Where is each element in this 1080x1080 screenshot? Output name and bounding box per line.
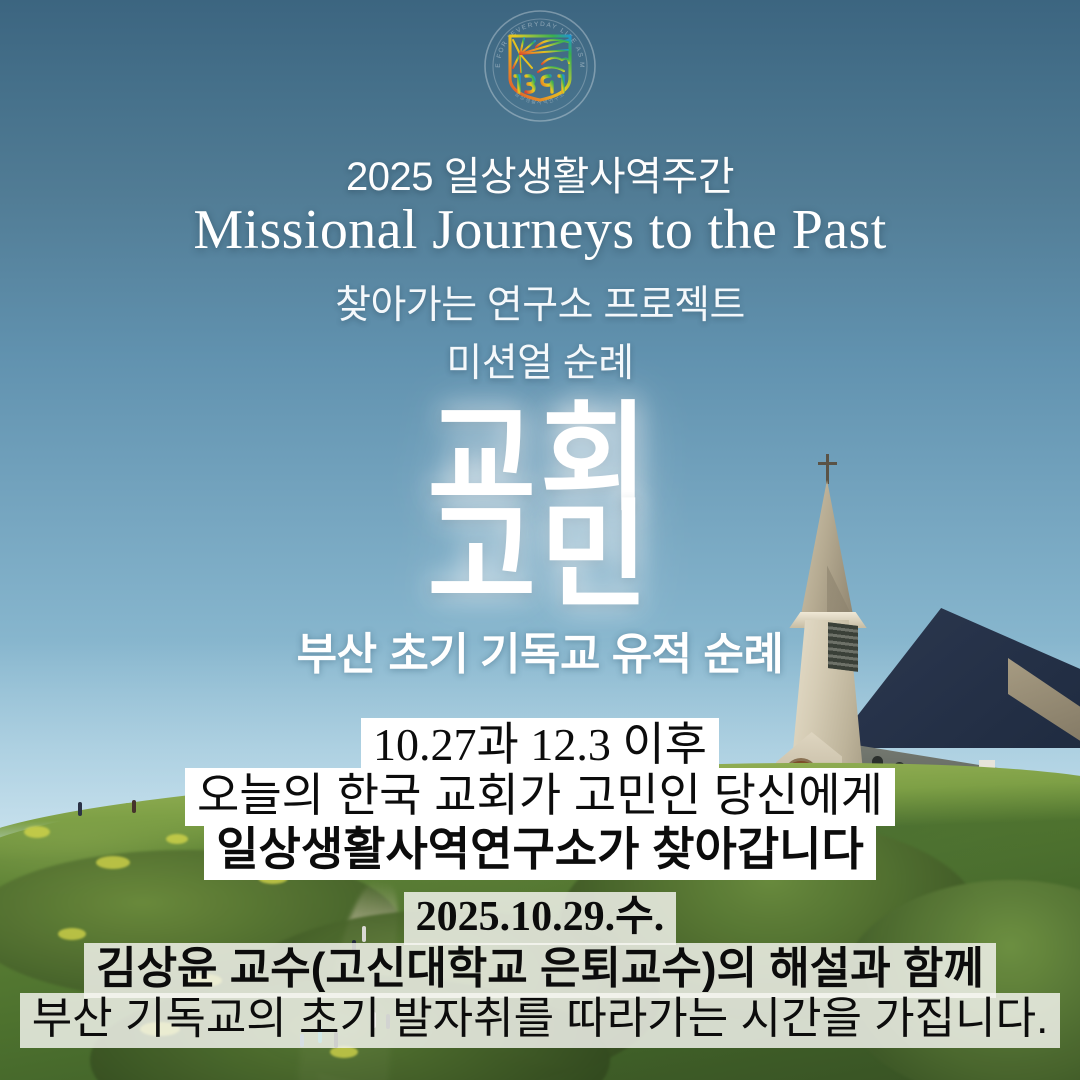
detail-line-1: 김상윤 교수(고신대학교 은퇴교수)의 해설과 함께 xyxy=(0,943,1080,998)
event-date: 2025.10.29.수. xyxy=(0,892,1080,945)
detail-line-1-text: 김상윤 교수(고신대학교 은퇴교수)의 해설과 함께 xyxy=(84,943,996,998)
message-line-3: 일상생활사역연구소가 찾아갑니다 xyxy=(0,822,1080,880)
subtitle-busan-heritage: 부산 초기 기독교 유적 순례 xyxy=(0,618,1080,682)
page-title: Missional Journeys to the Past xyxy=(0,198,1080,262)
week-label: 2025 일상생활사역주간 xyxy=(0,144,1080,202)
detail-line-2: 부산 기독교의 초기 발자취를 따라가는 시간을 가집니다. xyxy=(0,993,1080,1048)
keyword-line-2: 고민 xyxy=(0,498,1080,616)
event-date-text: 2025.10.29.수. xyxy=(404,892,677,945)
detail-line-2-text: 부산 기독교의 초기 발자취를 따라가는 시간을 가집니다. xyxy=(20,993,1061,1048)
message-line-2-text: 오늘의 한국 교회가 고민인 당신에게 xyxy=(185,768,895,826)
poster-text-content: 2025 일상생활사역주간 Missional Journeys to the … xyxy=(0,0,1080,1080)
subtitle-project: 찾아가는 연구소 프로젝트 xyxy=(0,274,1080,330)
subtitle-pilgrimage: 미션얼 순례 xyxy=(0,332,1080,388)
message-line-2: 오늘의 한국 교회가 고민인 당신에게 xyxy=(0,768,1080,826)
message-line-3-text: 일상생활사역연구소가 찾아갑니다 xyxy=(204,822,876,880)
message-line-1: 10.27과 12.3 이후 xyxy=(0,718,1080,776)
message-line-1-text: 10.27과 12.3 이후 xyxy=(361,718,719,776)
poster: INSTITUTE FOR "EVERYDAY LIFE AS MINISTRY… xyxy=(0,0,1080,1080)
